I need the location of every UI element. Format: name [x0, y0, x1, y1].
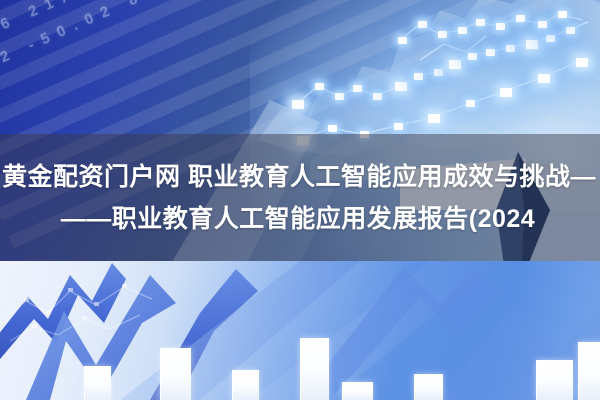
network-node [486, 49, 495, 56]
network-node [546, 35, 555, 42]
network-node [538, 21, 547, 28]
network-node [438, 31, 447, 38]
chart-bar [300, 338, 329, 400]
network-node [398, 37, 407, 44]
network-node [526, 40, 538, 49]
network-node [558, 11, 567, 18]
banner-image: -50.02 -25.32 +5.02 -11.25 -02.36 45.02 … [0, 0, 600, 400]
headline-block: 黄金配资门户网 职业教育人工智能应用成效与挑战— ——职业教育人工智能应用发展报… [0, 134, 600, 261]
network-node [468, 53, 477, 60]
chart-bar [232, 370, 259, 400]
chart-bar [414, 374, 443, 400]
chart-bar [84, 366, 111, 400]
network-node [476, 19, 485, 26]
small-node-cluster [0, 261, 160, 351]
chart-bar [342, 382, 373, 400]
network-node [516, 15, 525, 22]
network-node [566, 27, 575, 34]
network-node [458, 27, 467, 34]
headline-line-1: 黄金配资门户网 职业教育人工智能应用成效与挑战— [2, 157, 596, 197]
network-node [315, 83, 324, 90]
headline-line-2: ——职业教育人工智能应用发展报告(2024 [61, 199, 535, 239]
chart-field [0, 261, 600, 400]
chart-bar [160, 348, 191, 400]
chart-bar [536, 360, 573, 400]
network-node [506, 45, 515, 52]
network-node [418, 21, 427, 28]
chart-bar [578, 342, 600, 400]
network-node [496, 23, 505, 30]
